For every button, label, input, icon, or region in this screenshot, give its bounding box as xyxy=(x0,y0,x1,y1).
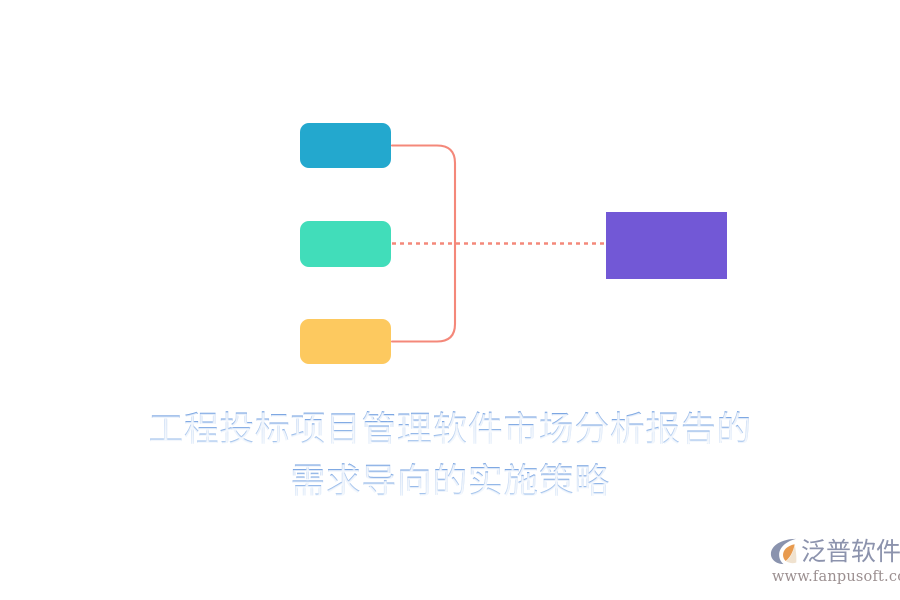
diagram-node-blue[interactable] xyxy=(300,123,391,168)
logo-url: www.fanpusoft.com xyxy=(772,569,900,586)
slide-canvas: 工程投标项目管理软件市场分析报告的 需求导向的实施策略 泛普软件 www.fan… xyxy=(0,0,900,600)
brace-top-connector xyxy=(392,146,455,244)
logo-row: 泛普软件 xyxy=(768,536,900,567)
page-title-line-2: 需求导向的实施策略 xyxy=(0,456,900,508)
page-title: 工程投标项目管理软件市场分析报告的 需求导向的实施策略 xyxy=(0,404,900,508)
diagram-node-green[interactable] xyxy=(300,221,391,267)
diagram-node-purple[interactable] xyxy=(606,212,727,279)
fanpu-swoosh-icon xyxy=(768,536,799,567)
brace-bottom-connector xyxy=(392,243,455,342)
page-title-line-1: 工程投标项目管理软件市场分析报告的 xyxy=(0,404,900,456)
diagram-connectors xyxy=(0,0,900,390)
logo-wordmark: 泛普软件 xyxy=(801,537,900,567)
logo-watermark: 泛普软件 www.fanpusoft.com xyxy=(768,536,896,590)
diagram-area xyxy=(0,0,900,390)
diagram-node-yellow[interactable] xyxy=(300,319,391,364)
